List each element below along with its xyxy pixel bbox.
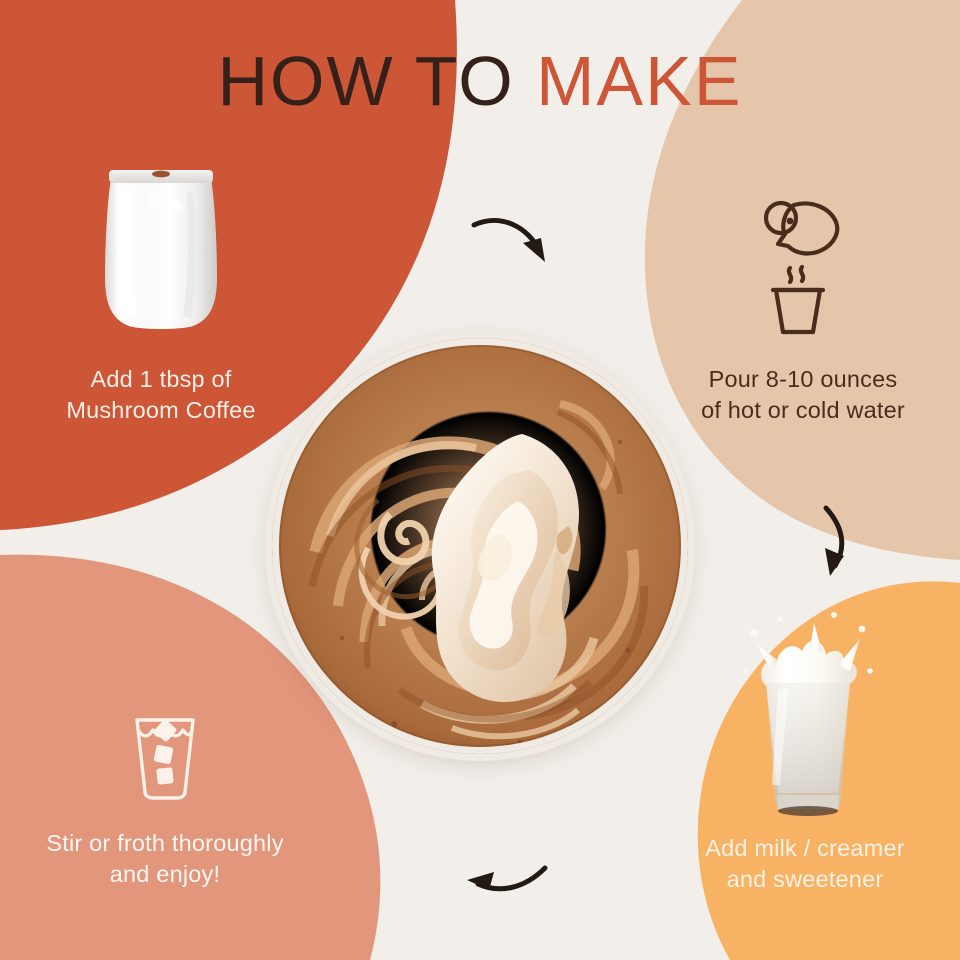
step-1-caption: Add 1 tbsp of Mushroom Coffee — [6, 364, 316, 426]
infographic-canvas: HOW TO MAKE — [0, 0, 960, 960]
center-latte-image — [272, 338, 688, 754]
page-title-accent: MAKE — [536, 42, 742, 120]
iced-glass-with-cubes-icon — [127, 710, 203, 802]
coffee-pouch-bag-icon — [97, 160, 225, 340]
step-2-caption: Pour 8-10 ounces of hot or cold water — [648, 364, 958, 426]
page-title: HOW TO MAKE — [0, 46, 960, 116]
latte-swirl-art — [272, 338, 688, 754]
step-2-artwork — [648, 196, 958, 338]
step-2-pour-water: Pour 8-10 ounces of hot or cold water — [648, 196, 958, 426]
step-1-artwork — [6, 160, 316, 340]
step-3-caption: Add milk / creamer and sweetener — [650, 833, 960, 895]
step-3-artwork — [650, 585, 960, 825]
milk-splash-glass-icon — [710, 585, 900, 825]
latte-cup — [272, 338, 688, 754]
step-3-add-milk: Add milk / creamer and sweetener — [650, 585, 960, 895]
page-title-dark: HOW TO — [217, 42, 536, 120]
step-1-add-coffee: Add 1 tbsp of Mushroom Coffee — [6, 160, 316, 426]
step-4-caption: Stir or froth thoroughly and enjoy! — [5, 828, 325, 890]
kettle-pouring-into-cup-icon — [748, 196, 858, 338]
